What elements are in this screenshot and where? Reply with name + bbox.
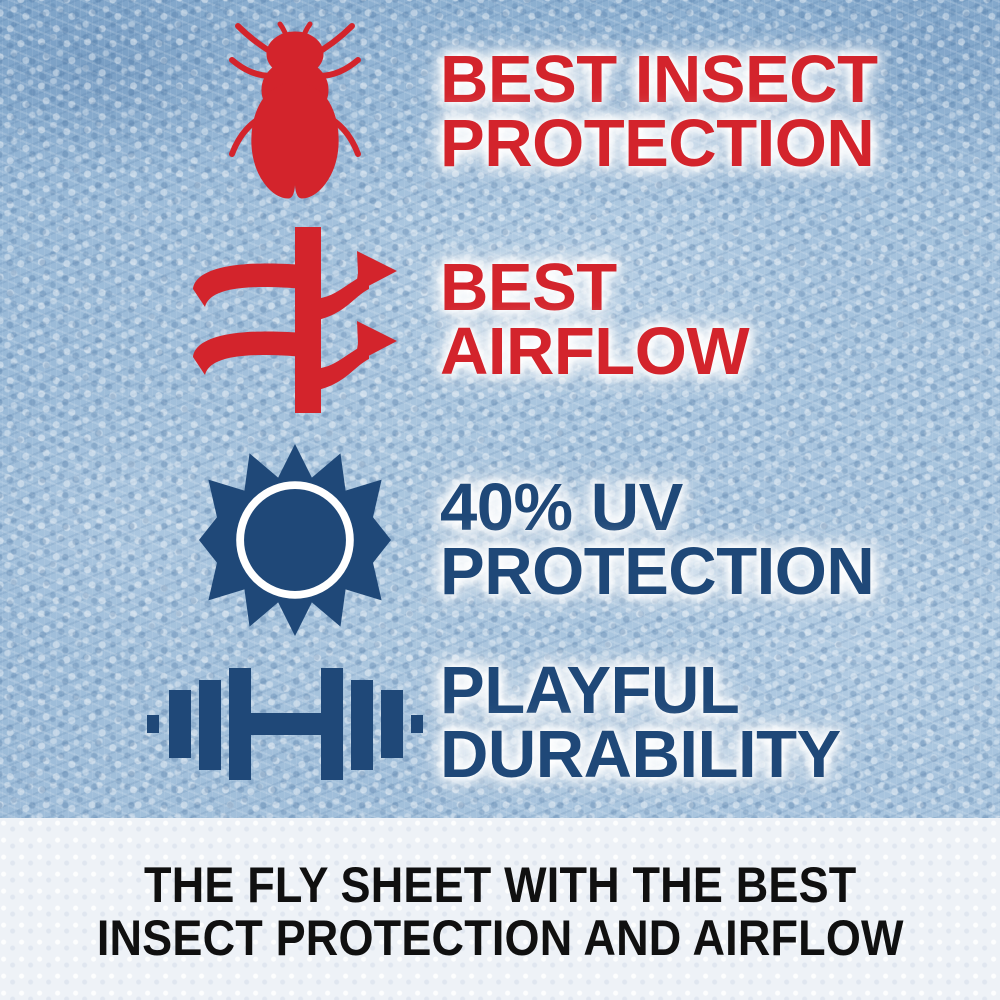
feature-row-airflow: BEST AIRFLOW: [150, 222, 850, 418]
airflow-icon-slot: [150, 225, 440, 415]
product-feature-poster: BEST INSECT PROTECTION: [0, 0, 1000, 1000]
feature-row-uv-protection: 40% UV PROTECTION: [150, 440, 850, 640]
fly-icon-slot: [150, 17, 440, 207]
dumbbell-icon-slot: [130, 653, 440, 793]
feature-label-airflow: BEST AIRFLOW: [440, 256, 749, 385]
dumbbell-icon: [145, 658, 425, 788]
airflow-through-barrier-icon: [187, 227, 403, 413]
feature-list: BEST INSECT PROTECTION: [0, 0, 1000, 818]
caption-banner-text: THE FLY SHEET WITH THE BEST INSECT PROTE…: [97, 853, 904, 965]
sun-icon: [197, 442, 393, 638]
fly-icon: [220, 20, 370, 205]
feature-label-durability: PLAYFUL DURABILITY: [440, 659, 841, 788]
feature-row-insect-protection: BEST INSECT PROTECTION: [150, 14, 850, 210]
caption-banner: THE FLY SHEET WITH THE BEST INSECT PROTE…: [0, 818, 1000, 1000]
feature-row-durability: PLAYFUL DURABILITY: [130, 648, 850, 798]
feature-label-insect-protection: BEST INSECT PROTECTION: [440, 48, 878, 177]
feature-label-uv-protection: 40% UV PROTECTION: [440, 476, 874, 605]
sun-icon-slot: [150, 440, 440, 640]
